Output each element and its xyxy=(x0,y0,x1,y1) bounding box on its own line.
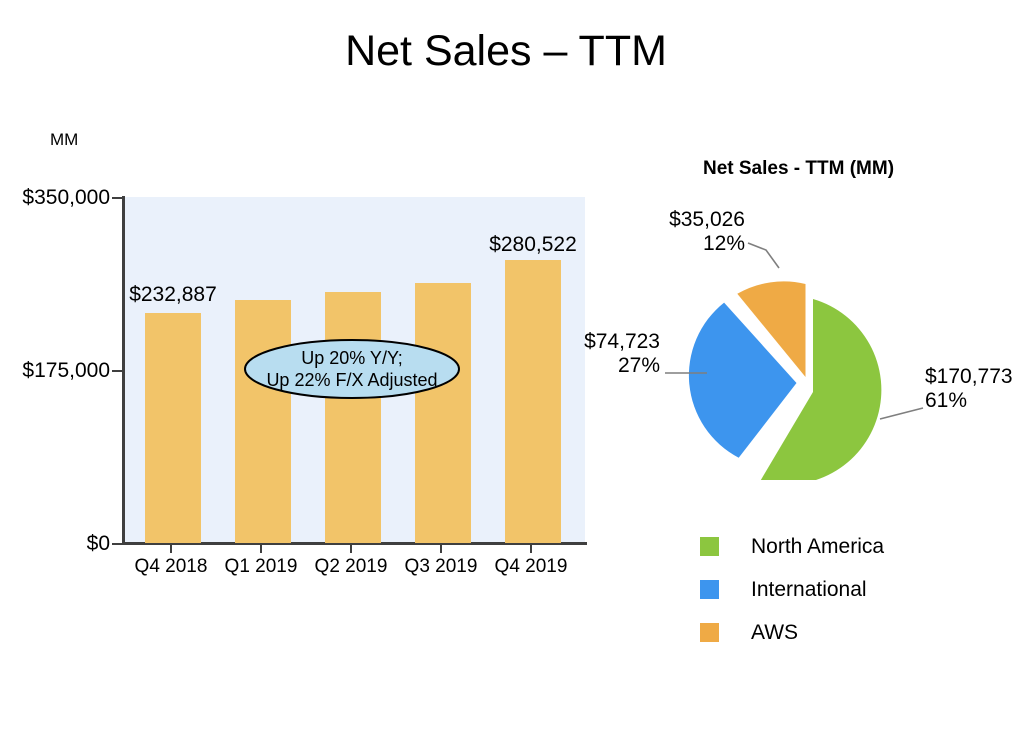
y-tick-mark-350000 xyxy=(112,197,122,199)
legend-swatch-aws-icon xyxy=(700,623,719,642)
slide-canvas: Net Sales – TTM MM $350,000 $175,000 $0 … xyxy=(0,0,1012,756)
y-tick-label-350000: $350,000 xyxy=(6,186,110,210)
bar-q4-2019[interactable] xyxy=(505,260,561,543)
pie-chart: Net Sales - TTM (MM) $35,026 12% $74,72 xyxy=(585,150,1012,650)
legend-swatch-international-icon xyxy=(700,580,719,599)
callout-bubble: Up 20% Y/Y; Up 22% F/X Adjusted xyxy=(243,338,461,400)
pie-label-international-value: $74,723 xyxy=(505,330,660,354)
x-tick-mark-q4-2018 xyxy=(170,544,172,553)
legend-label-north-america: North America xyxy=(751,535,884,559)
y-axis-labels: $350,000 $175,000 $0 xyxy=(0,120,110,600)
y-tick-label-175000: $175,000 xyxy=(6,359,110,383)
bar-q3-2019[interactable] xyxy=(415,283,471,543)
y-tick-label-0: $0 xyxy=(6,532,110,556)
legend-swatch-north-america-icon xyxy=(700,537,719,556)
legend-item-aws[interactable]: AWS xyxy=(700,611,1000,654)
page-title: Net Sales – TTM xyxy=(0,28,1012,75)
bar-q2-2019[interactable] xyxy=(325,292,381,543)
pie-label-international-percent: 27% xyxy=(505,354,660,378)
pie-label-international: $74,723 27% xyxy=(505,330,660,378)
pie-label-north-america: $170,773 61% xyxy=(925,365,1012,413)
y-tick-mark-0 xyxy=(112,543,122,545)
legend-label-aws: AWS xyxy=(751,621,798,645)
pie-label-north-america-percent: 61% xyxy=(925,389,1012,413)
pie-label-north-america-value: $170,773 xyxy=(925,365,1012,389)
bar-value-label-q4-2018: $232,887 xyxy=(98,283,248,307)
callout-ellipse-icon xyxy=(243,338,461,400)
x-tick-mark-q3-2019 xyxy=(440,544,442,553)
legend-label-international: International xyxy=(751,578,867,602)
pie-label-aws-percent: 12% xyxy=(570,232,745,256)
pie-label-aws: $35,026 12% xyxy=(570,208,745,256)
legend-item-international[interactable]: International xyxy=(700,568,1000,611)
pie-chart-title: Net Sales - TTM (MM) xyxy=(585,158,1012,180)
bar-q4-2018[interactable] xyxy=(145,313,201,543)
x-tick-mark-q4-2019 xyxy=(530,544,532,553)
pie-label-aws-value: $35,026 xyxy=(570,208,745,232)
y-tick-mark-175000 xyxy=(112,370,122,372)
leader-line-north-america xyxy=(880,408,923,419)
leader-line-aws xyxy=(748,243,779,268)
bar-q1-2019[interactable] xyxy=(235,300,291,543)
pie-legend: North America International AWS xyxy=(700,525,1000,654)
x-tick-mark-q2-2019 xyxy=(350,544,352,553)
x-tick-mark-q1-2019 xyxy=(260,544,262,553)
x-tick-label-q4-2019: Q4 2019 xyxy=(476,556,586,578)
legend-item-north-america[interactable]: North America xyxy=(700,525,1000,568)
